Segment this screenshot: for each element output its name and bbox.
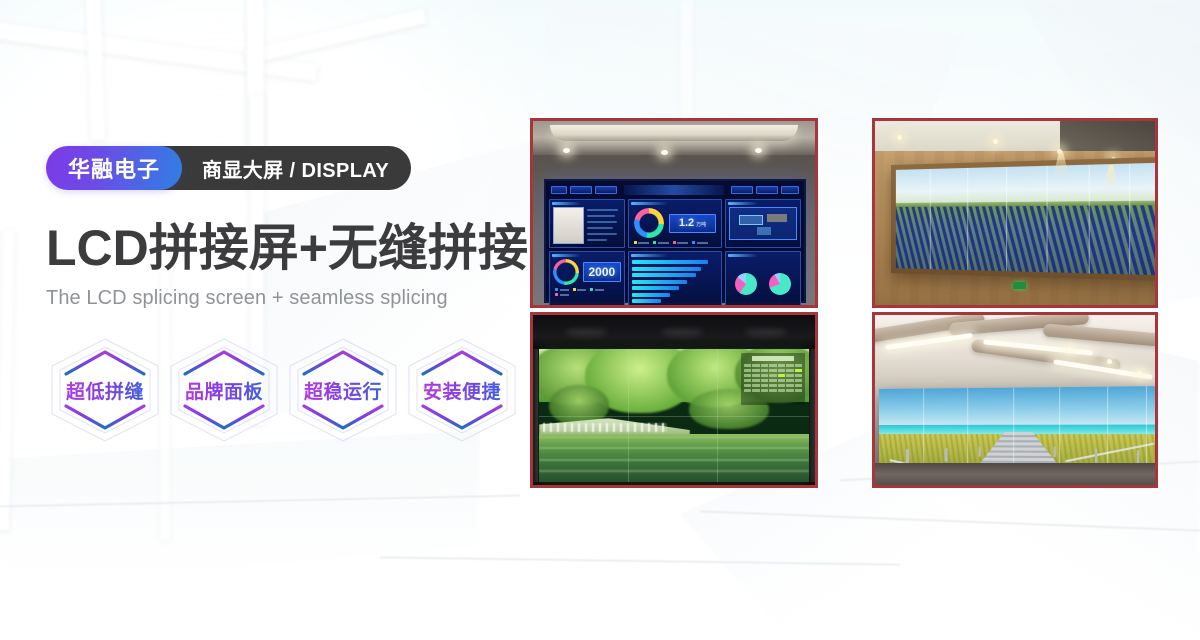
feature-badge-ultra-stable: 超稳运行 <box>286 336 400 444</box>
feature-badge-label: 品牌面板 <box>185 377 263 404</box>
feature-badge-brand-panel: 品牌面板 <box>167 336 281 444</box>
lakeside-screen <box>539 349 809 482</box>
dashboard-screen: 1.2万吨 <box>544 179 806 303</box>
solar-farm-screen <box>891 157 1155 282</box>
ceiling-beam-vertical-6 <box>680 0 693 120</box>
copy-block: 商显大屏 / DISPLAY 华融电子 LCD拼接屏+无缝拼接 The LCD … <box>46 146 516 310</box>
feature-badge-label: 超稳运行 <box>304 377 382 404</box>
calendar-overlay <box>741 353 805 405</box>
kpi-unit: 万吨 <box>696 222 706 228</box>
kpi-secondary: 2000 <box>588 266 616 278</box>
photo-beach-video-wall <box>872 312 1158 488</box>
feature-badge-row: 超低拼缝 品牌面板 超稳运行 <box>48 336 519 444</box>
photo-lakeside-video-wall <box>530 312 818 488</box>
photo-dashboard-video-wall: 1.2万吨 <box>530 118 818 308</box>
promotional-banner: 商显大屏 / DISPLAY 华融电子 LCD拼接屏+无缝拼接 The LCD … <box>0 0 1200 640</box>
photo-solar-farm-video-wall <box>872 118 1158 308</box>
tag-row: 商显大屏 / DISPLAY 华融电子 <box>46 146 516 194</box>
page-title: LCD拼接屏+无缝拼接 <box>46 222 516 275</box>
feature-badge-label: 安装便捷 <box>423 377 501 404</box>
kpi-value: 1.2 <box>679 217 694 229</box>
brand-tag: 华融电子 <box>46 146 182 190</box>
feature-badge-label: 超低拼缝 <box>66 377 144 404</box>
feature-badge-easy-install: 安装便捷 <box>405 336 519 444</box>
page-subtitle: The LCD splicing screen + seamless splic… <box>46 287 516 310</box>
feature-badge-ultra-narrow-bezel: 超低拼缝 <box>48 336 162 444</box>
